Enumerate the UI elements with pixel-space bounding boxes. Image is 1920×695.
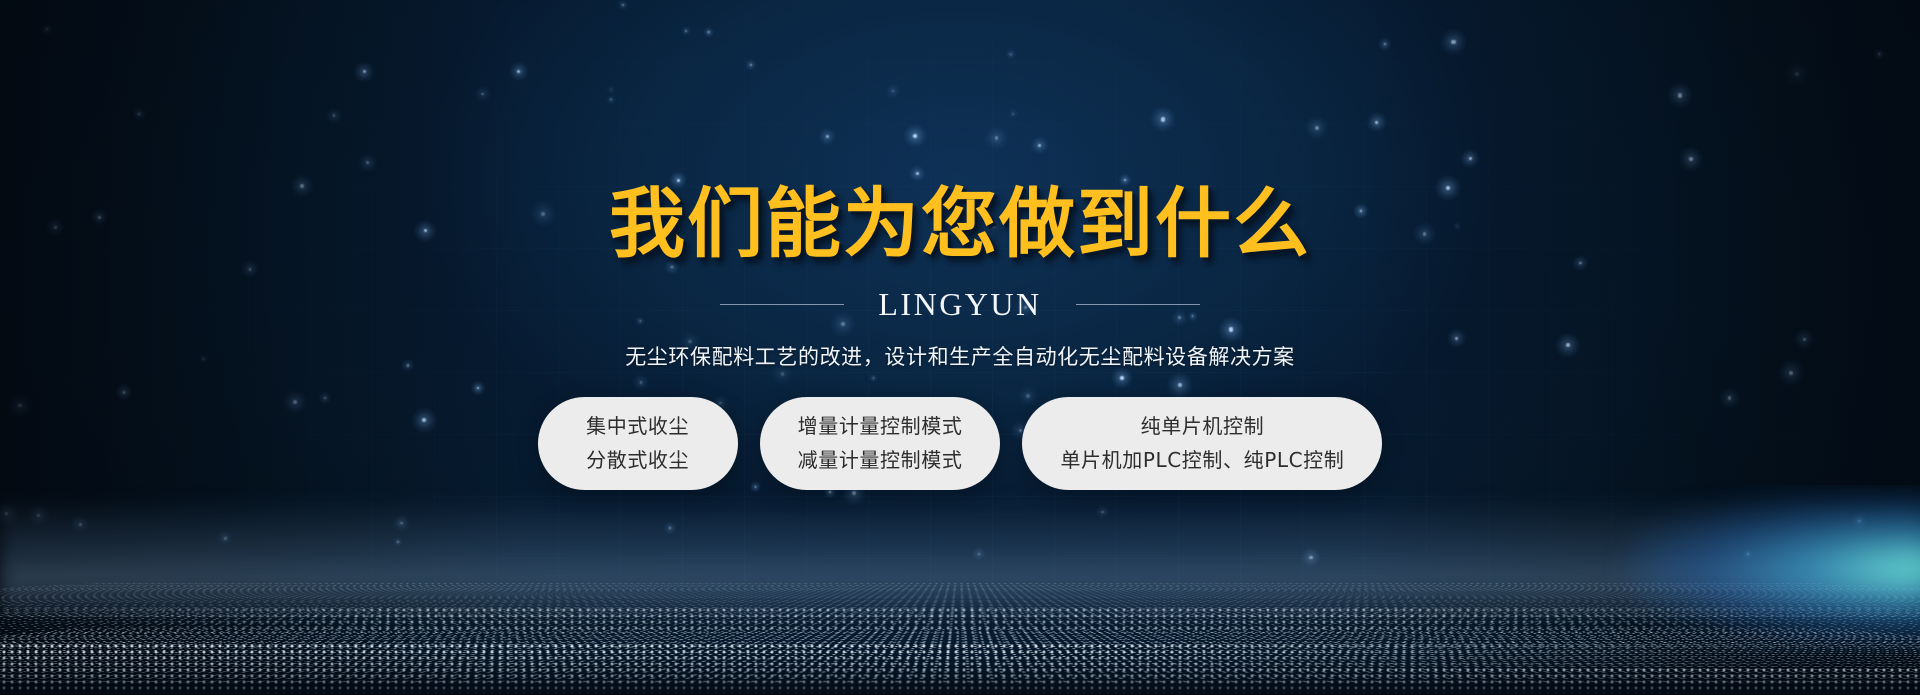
pill-line-primary: 集中式收尘	[586, 416, 689, 437]
pill-line-primary: 增量计量控制模式	[798, 416, 963, 437]
banner-content: 我们能为您做到什么 LINGYUN 无尘环保配料工艺的改进，设计和生产全自动化无…	[0, 0, 1920, 695]
banner-description: 无尘环保配料工艺的改进，设计和生产全自动化无尘配料设备解决方案	[625, 341, 1295, 371]
pill-line-secondary: 减量计量控制模式	[798, 450, 963, 471]
divider-line-left	[720, 304, 844, 305]
divider-line-right	[1076, 304, 1200, 305]
feature-pill-dust-collection[interactable]: 集中式收尘 分散式收尘	[538, 397, 738, 490]
feature-pill-weighing-mode[interactable]: 增量计量控制模式 减量计量控制模式	[760, 397, 1001, 490]
hero-banner: 我们能为您做到什么 LINGYUN 无尘环保配料工艺的改进，设计和生产全自动化无…	[0, 0, 1920, 695]
brand-latin-name: LINGYUN	[878, 286, 1041, 323]
pill-line-secondary: 单片机加PLC控制、纯PLC控制	[1060, 450, 1344, 471]
page-title: 我们能为您做到什么	[609, 186, 1311, 262]
brand-subtitle-row: LINGYUN	[720, 286, 1199, 323]
feature-pill-control-system[interactable]: 纯单片机控制 单片机加PLC控制、纯PLC控制	[1022, 397, 1382, 490]
pill-line-primary: 纯单片机控制	[1141, 416, 1265, 437]
feature-pill-group: 集中式收尘 分散式收尘 增量计量控制模式 减量计量控制模式 纯单片机控制 单片机…	[538, 397, 1383, 490]
pill-line-secondary: 分散式收尘	[586, 450, 689, 471]
